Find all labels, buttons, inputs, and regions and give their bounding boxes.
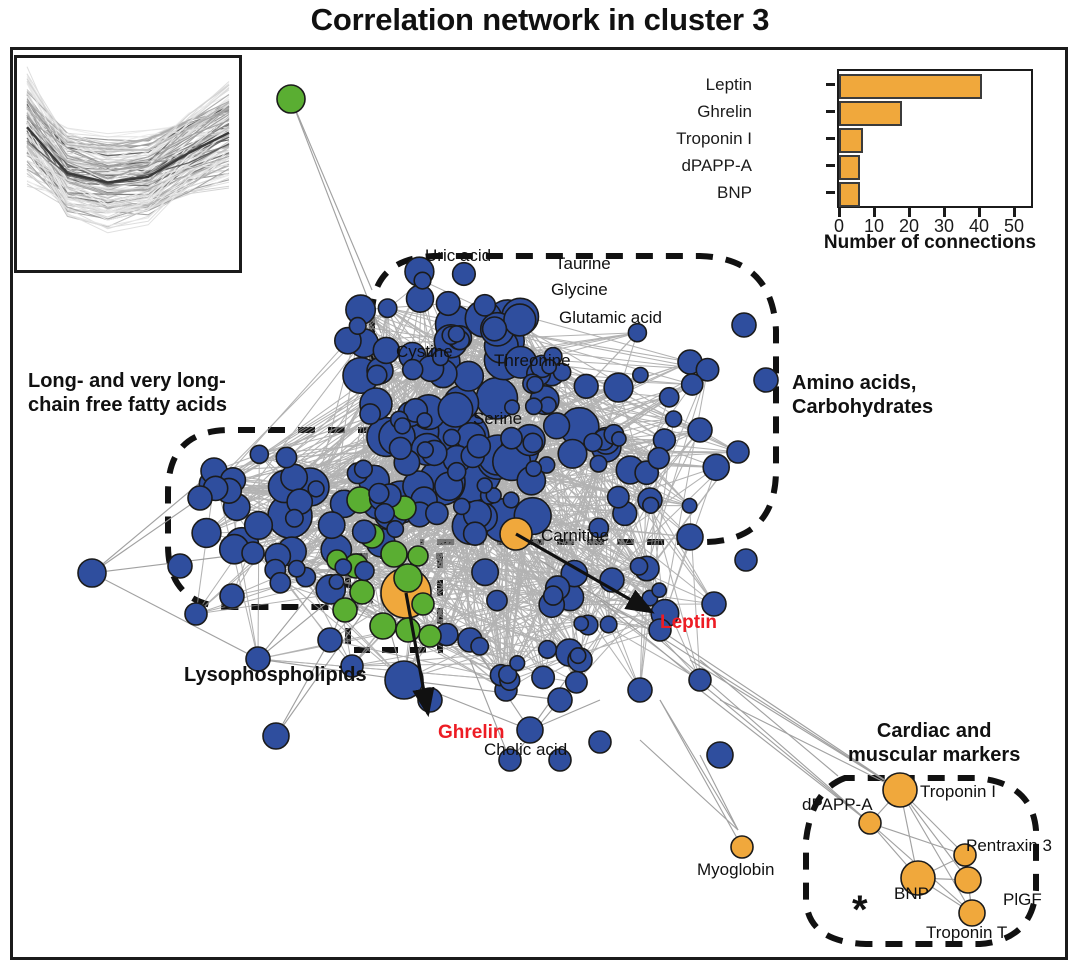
group-label-fatty-acids-line1: Long- and very long- [28,370,227,394]
asterisk-annotation: * [852,890,868,930]
bar-chart-axis-title: Number of connections [800,232,1060,254]
node-label-plgf: PlGF [1003,890,1042,910]
bar-row [839,182,1031,207]
node-label-pentraxin-3: Pentraxin 3 [966,836,1052,856]
group-label-cardiac-line1: Cardiac and [848,720,1020,744]
node-label-glycine: Glycine [551,280,608,300]
bar-bnp [839,182,860,207]
bar-label-dpapp-a: dPAPP-A [681,153,752,178]
page-title: Correlation network in cluster 3 [0,2,1080,38]
group-label-lysophospholipids: Lysophospholipids [184,664,367,688]
bar-tick-dpapp-a [826,164,835,167]
node-label-troponin-t: Troponin T [926,923,1007,943]
node-label-uric-acid: Uric acid [425,246,491,266]
group-label-amino-line1: Amino acids, [792,372,933,396]
bar-label-ghrelin: Ghrelin [697,99,752,124]
bar-row [839,128,1031,153]
bar-tick-bnp [826,191,835,194]
bar-ghrelin [839,101,902,126]
group-label-fatty-acids-line2: chain free fatty acids [28,394,227,418]
highlight-label-leptin: Leptin [660,612,717,634]
node-label-dpapp-a: dPAPP-A [802,795,873,815]
figure-root: Correlation network in cluster 3 [0,0,1080,979]
bar-label-troponin-i: Troponin I [676,126,752,151]
connections-bar-chart-inset: Leptin Ghrelin Troponin I dPAPP-A BNP 0 … [760,64,1060,259]
bar-dpapp-a [839,155,860,180]
bar-tick-ghrelin [826,110,835,113]
node-label-taurine: Taurine [555,254,611,274]
cluster-profile-plot [17,58,239,270]
node-label-cystine: Cystine [396,342,453,362]
bar-troponin-i [839,128,863,153]
node-label-myoglobin: Myoglobin [697,860,775,880]
node-label-troponin-i: Troponin I [920,782,996,802]
bar-row [839,155,1031,180]
group-label-amino-acids: Amino acids, Carbohydrates [792,372,933,419]
group-label-amino-line2: Carbohydrates [792,396,933,420]
group-label-cardiac: Cardiac and muscular markers [848,720,1020,767]
node-label-threonine: Threonine [494,351,571,371]
node-label-bnp: BNP [894,884,929,904]
group-label-cardiac-line2: muscular markers [848,744,1020,768]
bar-row [839,74,1031,99]
bar-chart-plot-area [837,69,1033,208]
highlight-label-ghrelin: Ghrelin [438,722,505,744]
group-label-fatty-acids: Long- and very long- chain free fatty ac… [28,370,227,417]
bar-leptin [839,74,982,99]
bar-tick-leptin [826,83,835,86]
node-label-carnitine: Carnitine [541,526,609,546]
cluster-profile-inset [14,55,242,273]
node-label-glutamic-acid: Glutamic acid [559,308,662,328]
node-label-serine: Serine [473,409,522,429]
bar-label-leptin: Leptin [706,72,752,97]
bar-label-bnp: BNP [717,180,752,205]
bar-tick-troponin-i [826,137,835,140]
bar-row [839,101,1031,126]
